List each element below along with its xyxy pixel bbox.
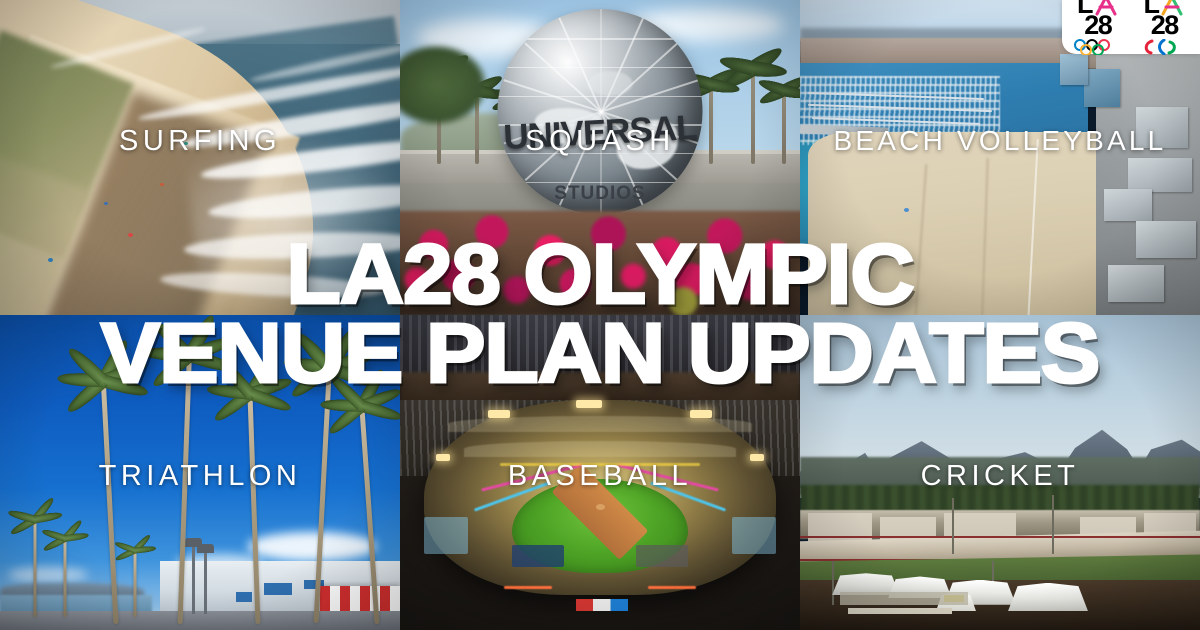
squash-photo: UNIVERSAL STUDIOS <box>400 0 800 315</box>
la28-logo-lockup[interactable]: L 28 <box>1062 0 1200 54</box>
venue-tile-surfing[interactable]: SURFING <box>0 0 400 315</box>
venue-tile-triathlon[interactable]: TRIATHLON <box>0 315 400 630</box>
sport-label-cricket: CRICKET <box>800 462 1200 491</box>
sport-label-triathlon: TRIATHLON <box>0 462 400 491</box>
sport-label-beach-volleyball: BEACH VOLLEYBALL <box>800 127 1200 155</box>
la28-olympic-mark: L 28 <box>1069 0 1127 60</box>
sport-label-baseball: BASEBALL <box>400 462 800 491</box>
olympic-year-28: 28 <box>1084 14 1111 36</box>
venue-tile-squash[interactable]: UNIVERSAL STUDIOS SQUASH <box>400 0 800 315</box>
sport-label-squash: SQUASH <box>400 127 800 156</box>
la28-paralympic-mark: L 28 <box>1136 0 1194 60</box>
globe-text-studios: STUDIOS <box>554 183 645 205</box>
venue-tile-cricket[interactable]: CRICKET <box>800 315 1200 630</box>
promo-graphic-stage: SURFING <box>0 0 1200 630</box>
olympic-rings-icon <box>1072 39 1124 60</box>
surfing-photo <box>0 0 400 315</box>
olympic-letter-a-pink-icon <box>1093 0 1119 16</box>
paralympic-agitos-icon <box>1138 39 1190 60</box>
venue-photo-grid: SURFING <box>0 0 1200 630</box>
sport-label-surfing: SURFING <box>0 127 400 156</box>
paralympic-letter-a-multicolor-icon <box>1159 0 1185 16</box>
venue-tile-baseball[interactable]: BASEBALL <box>400 315 800 630</box>
paralympic-year-28: 28 <box>1151 14 1178 36</box>
